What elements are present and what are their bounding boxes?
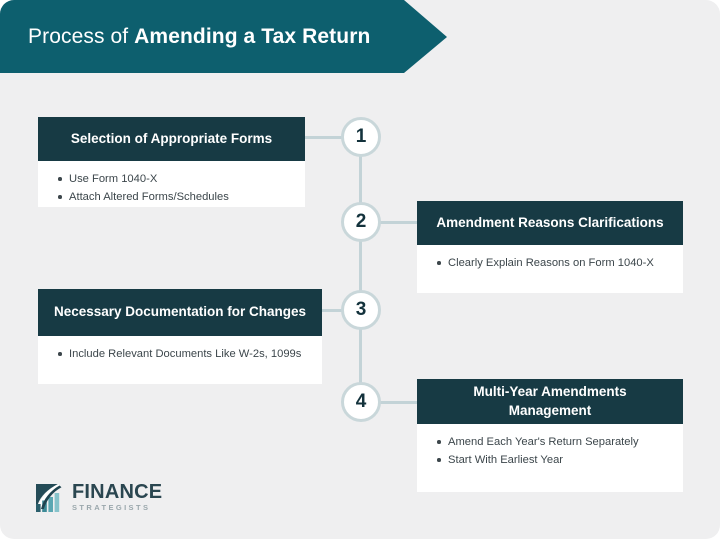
list-item: Start With Earliest Year <box>448 452 669 468</box>
finance-strategists-chart-icon <box>34 481 68 513</box>
list-item: Clearly Explain Reasons on Form 1040-X <box>448 255 669 271</box>
step-card-1-bullets: Use Form 1040-X Attach Altered Forms/Sch… <box>52 171 291 205</box>
list-item: Amend Each Year's Return Separately <box>448 434 669 450</box>
step-card-4: Multi-Year Amendments Management Amend E… <box>417 379 683 492</box>
step-node-2[interactable]: 2 <box>341 202 381 242</box>
timeline-spine <box>359 137 362 403</box>
infographic-canvas: Process of Amending a Tax Return 1 2 3 4… <box>0 0 720 539</box>
brand-name: FINANCE <box>72 482 162 502</box>
connector-step-1 <box>305 136 343 139</box>
list-item: Attach Altered Forms/Schedules <box>69 189 291 205</box>
step-card-4-bullets: Amend Each Year's Return Separately Star… <box>431 434 669 468</box>
connector-step-2 <box>379 221 417 224</box>
step-card-4-title: Multi-Year Amendments Management <box>417 379 683 424</box>
step-card-3-body: Include Relevant Documents Like W-2s, 10… <box>38 336 322 384</box>
page-title-plain: Process of <box>28 25 134 48</box>
step-node-3[interactable]: 3 <box>341 290 381 330</box>
step-card-2-title: Amendment Reasons Clarifications <box>417 201 683 245</box>
step-card-1: Selection of Appropriate Forms Use Form … <box>38 117 305 207</box>
step-node-4[interactable]: 4 <box>341 382 381 422</box>
brand-logo[interactable]: FINANCE STRATEGISTS <box>34 481 162 513</box>
brand-logo-text: FINANCE STRATEGISTS <box>72 482 162 512</box>
page-title: Process of Amending a Tax Return <box>0 25 370 49</box>
connector-step-4 <box>379 401 417 404</box>
step-card-3-bullets: Include Relevant Documents Like W-2s, 10… <box>52 346 308 362</box>
step-card-2-bullets: Clearly Explain Reasons on Form 1040-X <box>431 255 669 271</box>
step-node-1[interactable]: 1 <box>341 117 381 157</box>
list-item: Use Form 1040-X <box>69 171 291 187</box>
header-banner: Process of Amending a Tax Return <box>0 0 447 73</box>
step-node-4-number: 4 <box>356 391 367 413</box>
step-card-3-title: Necessary Documentation for Changes <box>38 289 322 336</box>
step-node-1-number: 1 <box>356 126 367 148</box>
step-card-4-body: Amend Each Year's Return Separately Star… <box>417 424 683 492</box>
list-item: Include Relevant Documents Like W-2s, 10… <box>69 346 308 362</box>
brand-subtitle: STRATEGISTS <box>72 504 162 512</box>
page-title-bold: Amending a Tax Return <box>134 25 370 48</box>
step-card-1-body: Use Form 1040-X Attach Altered Forms/Sch… <box>38 161 305 207</box>
step-card-3: Necessary Documentation for Changes Incl… <box>38 289 322 384</box>
step-node-3-number: 3 <box>356 299 367 321</box>
connector-step-3 <box>322 309 343 312</box>
step-card-2: Amendment Reasons Clarifications Clearly… <box>417 201 683 293</box>
step-card-1-title: Selection of Appropriate Forms <box>38 117 305 161</box>
step-card-2-body: Clearly Explain Reasons on Form 1040-X <box>417 245 683 293</box>
step-node-2-number: 2 <box>356 211 367 233</box>
